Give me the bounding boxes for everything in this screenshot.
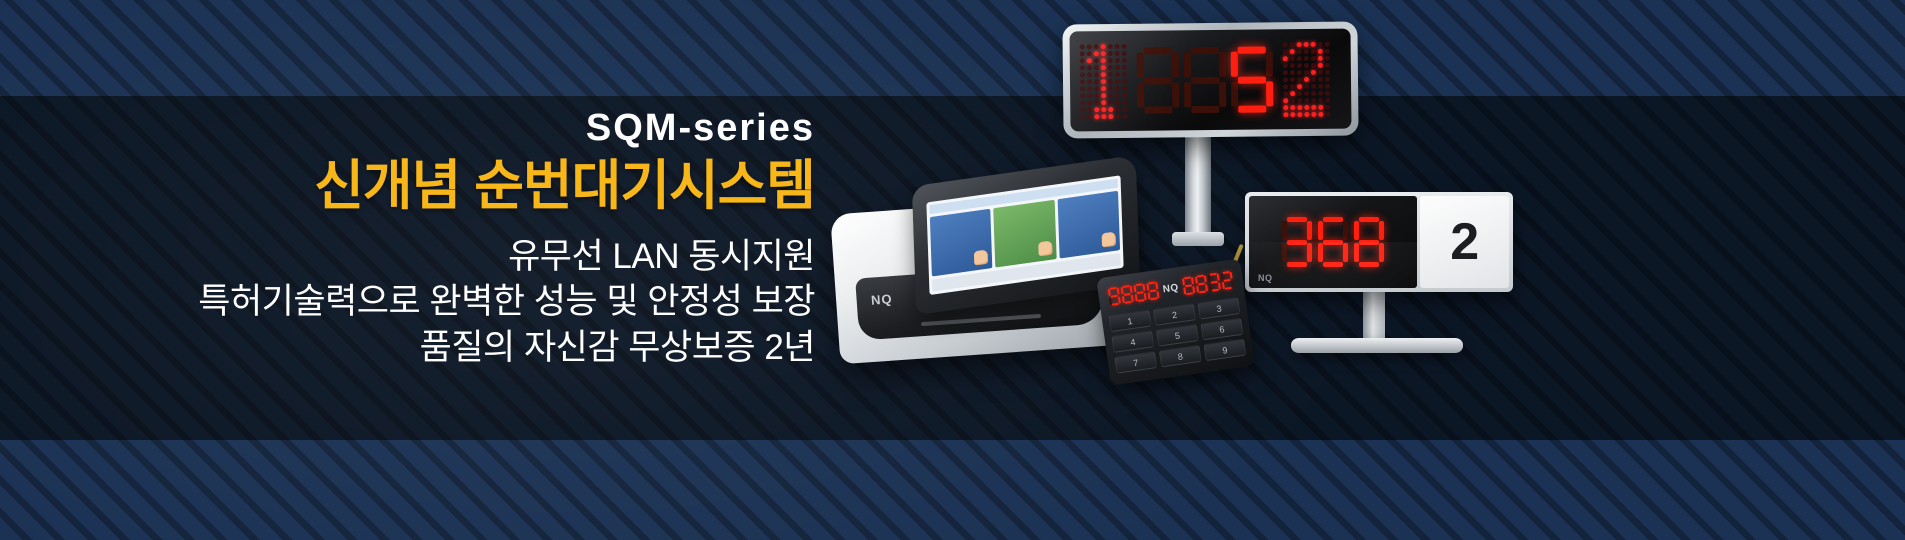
led-seven-segment-digit — [1137, 47, 1180, 113]
desk-seven-segment-digit — [1318, 217, 1348, 267]
led-matrix-dot — [1115, 43, 1120, 48]
led-matrix-dot — [1318, 97, 1323, 102]
led-matrix-dot — [1087, 100, 1092, 105]
led-matrix-dot — [1122, 43, 1127, 48]
desk-display-neck — [1363, 290, 1385, 342]
led-matrix-dot — [1318, 104, 1323, 109]
led-matrix-dot — [1304, 55, 1309, 60]
kiosk-screen-panel-1[interactable] — [930, 209, 993, 277]
led-matrix-dot — [1115, 64, 1120, 69]
led-matrix-dot — [1283, 42, 1288, 47]
keypad-key[interactable]: 7 — [1114, 351, 1157, 374]
led-matrix-dot — [1080, 100, 1085, 105]
led-matrix-dot — [1290, 49, 1295, 54]
kiosk-screen-panel-3[interactable] — [1057, 191, 1120, 259]
led-matrix-dot — [1108, 79, 1113, 84]
led-matrix-dot — [1318, 48, 1323, 53]
led-matrix-dot — [1108, 100, 1113, 105]
led-matrix-dot — [1318, 90, 1323, 95]
hand-pointer-icon — [1038, 240, 1052, 256]
led-matrix-dot — [1108, 72, 1113, 77]
led-matrix-dot — [1283, 91, 1288, 96]
led-matrix-dot — [1094, 65, 1099, 70]
led-matrix-dot — [1304, 69, 1309, 74]
led-seven-segment-digit — [1184, 47, 1227, 113]
keypad-display-left — [1108, 281, 1160, 306]
led-matrix-dot — [1101, 107, 1106, 112]
led-matrix-dot — [1101, 86, 1106, 91]
led-matrix-dot — [1094, 107, 1099, 112]
led-matrix-dot — [1080, 93, 1085, 98]
led-matrix-dot — [1304, 83, 1309, 88]
led-matrix-dot — [1108, 65, 1113, 70]
led-matrix-dot — [1108, 107, 1113, 112]
keypad-brand-logo: NQ — [1162, 282, 1179, 295]
keypad-key-grid: 1 2 3 4 5 6 7 8 9 — [1108, 297, 1246, 374]
led-matrix-dot — [1080, 72, 1085, 77]
led-matrix-dot — [1283, 56, 1288, 61]
banner-headline: 신개념 순번대기시스템 — [115, 154, 815, 220]
led-matrix-dot — [1304, 76, 1309, 81]
led-matrix-dot — [1318, 62, 1323, 67]
led-matrix-dot — [1325, 83, 1330, 88]
led-matrix-dot — [1304, 111, 1309, 116]
desk-display-led: NQ — [1249, 196, 1417, 288]
led-matrix-dot — [1122, 85, 1127, 90]
led-matrix-dot — [1115, 99, 1120, 104]
led-matrix-dot — [1087, 93, 1092, 98]
led-matrix-dot — [1311, 41, 1316, 46]
led-matrix-dot — [1290, 63, 1295, 68]
keypad-key[interactable]: 9 — [1203, 339, 1246, 362]
led-matrix-dot — [1094, 86, 1099, 91]
keypad-remote: NQ 1 2 3 4 5 6 7 8 9 — [1096, 258, 1255, 385]
led-matrix-dot — [1297, 98, 1302, 103]
led-matrix-dot — [1325, 41, 1330, 46]
led-matrix-digit-right — [1283, 41, 1331, 116]
keypad-key[interactable]: 3 — [1198, 297, 1241, 320]
led-matrix-dot — [1108, 114, 1113, 119]
keypad-segment-digit — [1182, 276, 1195, 295]
led-matrix-dot — [1101, 114, 1106, 119]
led-matrix-dot — [1304, 97, 1309, 102]
led-matrix-dot — [1115, 71, 1120, 76]
led-matrix-dot — [1101, 100, 1106, 105]
led-matrix-dot — [1122, 78, 1127, 83]
banner-subline-2: 특허기술력으로 완벽한 성능 및 안정성 보장 — [115, 279, 815, 325]
led-matrix-dot — [1080, 107, 1085, 112]
led-matrix-dot — [1087, 86, 1092, 91]
led-matrix-dot — [1304, 62, 1309, 67]
keypad-key[interactable]: 2 — [1153, 303, 1196, 326]
led-matrix-dot — [1290, 70, 1295, 75]
led-matrix-dot — [1297, 63, 1302, 68]
led-matrix-dot — [1311, 97, 1316, 102]
led-matrix-dot — [1122, 64, 1127, 69]
led-matrix-dot — [1094, 100, 1099, 105]
led-matrix-dot — [1080, 65, 1085, 70]
desk-seven-segment-digit — [1282, 217, 1312, 267]
led-matrix-dot — [1087, 79, 1092, 84]
desk-counter-number: 2 — [1420, 196, 1509, 288]
led-matrix-dot — [1094, 72, 1099, 77]
led-seven-segment-group — [1137, 46, 1274, 113]
keypad-segment-digit — [1221, 271, 1234, 290]
led-matrix-dot — [1101, 65, 1106, 70]
led-matrix-dot — [1094, 44, 1099, 49]
led-matrix-dot — [1290, 77, 1295, 82]
led-matrix-dot — [1325, 69, 1330, 74]
keypad-segment-digit — [1195, 274, 1208, 293]
led-matrix-dot — [1325, 62, 1330, 67]
led-matrix-dot — [1080, 86, 1085, 91]
led-matrix-dot — [1318, 111, 1323, 116]
led-matrix-dot — [1297, 105, 1302, 110]
led-matrix-dot — [1325, 111, 1330, 116]
led-matrix-dot — [1290, 91, 1295, 96]
banner-subline-1: 유무선 LAN 동시지원 — [115, 234, 815, 280]
led-sign-pole-foot — [1172, 232, 1224, 246]
keypad-key[interactable]: 4 — [1111, 330, 1154, 353]
led-matrix-dot — [1304, 41, 1309, 46]
led-matrix-dot — [1087, 107, 1092, 112]
led-matrix-dot — [1325, 104, 1330, 109]
led-matrix-dot — [1087, 51, 1092, 56]
banner-subline-3: 품질의 자신감 무상보증 2년 — [115, 325, 815, 371]
led-matrix-dot — [1318, 76, 1323, 81]
led-matrix-dot — [1283, 112, 1288, 117]
led-matrix-dot — [1311, 76, 1316, 81]
kiosk-touchscreen[interactable] — [926, 175, 1123, 295]
led-matrix-dot — [1101, 72, 1106, 77]
led-matrix-dot — [1115, 50, 1120, 55]
led-matrix-dot — [1101, 58, 1106, 63]
led-seven-segment-digit — [1231, 46, 1274, 112]
led-matrix-dot — [1325, 90, 1330, 95]
led-matrix-dot — [1311, 48, 1316, 53]
kiosk-screen-panel-2[interactable] — [994, 200, 1057, 268]
led-matrix-dot — [1318, 55, 1323, 60]
led-matrix-dot — [1325, 55, 1330, 60]
led-matrix-dot — [1094, 58, 1099, 63]
led-matrix-dot — [1283, 70, 1288, 75]
keypad-segment-digit — [1133, 283, 1146, 302]
led-matrix-dot — [1094, 114, 1099, 119]
led-matrix-dot — [1318, 41, 1323, 46]
led-matrix-dot — [1094, 51, 1099, 56]
keypad-key[interactable]: 1 — [1108, 310, 1151, 333]
keypad-segment-digit — [1120, 285, 1133, 304]
led-matrix-dot — [1311, 62, 1316, 67]
led-matrix-dot — [1122, 71, 1127, 76]
led-matrix-dot — [1122, 99, 1127, 104]
banner-subline-list: 유무선 LAN 동시지원 특허기술력으로 완벽한 성능 및 안정성 보장 품질의… — [115, 234, 815, 371]
led-matrix-dot — [1318, 69, 1323, 74]
led-matrix-dot — [1115, 85, 1120, 90]
keypad-key[interactable]: 5 — [1156, 324, 1199, 347]
led-matrix-dot — [1290, 98, 1295, 103]
led-matrix-dot — [1304, 90, 1309, 95]
keypad-key[interactable]: 8 — [1159, 345, 1202, 368]
led-matrix-digit-left — [1080, 43, 1128, 118]
led-matrix-dot — [1297, 42, 1302, 47]
kiosk-brand-logo: NQ — [871, 291, 893, 307]
led-matrix-dot — [1101, 79, 1106, 84]
led-matrix-dot — [1297, 91, 1302, 96]
promo-banner: SQM-series 신개념 순번대기시스템 유무선 LAN 동시지원 특허기술… — [0, 0, 1905, 540]
led-matrix-dot — [1122, 113, 1127, 118]
led-matrix-dot — [1115, 92, 1120, 97]
led-matrix-dot — [1122, 92, 1127, 97]
led-matrix-dot — [1311, 83, 1316, 88]
led-matrix-dot — [1101, 44, 1106, 49]
led-matrix-dot — [1101, 93, 1106, 98]
led-matrix-dot — [1297, 70, 1302, 75]
led-matrix-dot — [1115, 113, 1120, 118]
led-matrix-dot — [1290, 105, 1295, 110]
led-matrix-dot — [1080, 114, 1085, 119]
led-matrix-dot — [1290, 112, 1295, 117]
led-matrix-dot — [1115, 57, 1120, 62]
led-matrix-dot — [1283, 98, 1288, 103]
keypad-key[interactable]: 6 — [1200, 318, 1243, 341]
desk-brand-logo: NQ — [1258, 273, 1273, 283]
large-led-sign — [1062, 21, 1358, 138]
led-matrix-dot — [1080, 51, 1085, 56]
led-matrix-dot — [1094, 93, 1099, 98]
led-matrix-dot — [1290, 42, 1295, 47]
led-matrix-dot — [1297, 49, 1302, 54]
led-matrix-dot — [1108, 86, 1113, 91]
large-led-screen — [1069, 29, 1351, 132]
led-matrix-dot — [1122, 50, 1127, 55]
led-matrix-dot — [1108, 44, 1113, 49]
led-matrix-dot — [1283, 49, 1288, 54]
hand-pointer-icon — [1102, 232, 1116, 248]
led-matrix-dot — [1283, 63, 1288, 68]
led-matrix-dot — [1311, 111, 1316, 116]
led-matrix-dot — [1283, 105, 1288, 110]
led-matrix-dot — [1297, 56, 1302, 61]
hand-pointer-icon — [974, 249, 988, 265]
led-matrix-dot — [1101, 51, 1106, 56]
led-matrix-dot — [1087, 58, 1092, 63]
led-matrix-dot — [1318, 83, 1323, 88]
led-matrix-dot — [1290, 56, 1295, 61]
led-sign-pole — [1185, 125, 1211, 243]
desk-display-panel: NQ 2 — [1245, 192, 1513, 292]
led-matrix-dot — [1304, 104, 1309, 109]
led-matrix-dot — [1297, 112, 1302, 117]
led-matrix-dot — [1108, 51, 1113, 56]
led-matrix-dot — [1297, 77, 1302, 82]
led-matrix-dot — [1080, 79, 1085, 84]
led-matrix-dot — [1087, 44, 1092, 49]
led-matrix-dot — [1304, 48, 1309, 53]
led-matrix-dot — [1108, 58, 1113, 63]
led-matrix-dot — [1311, 90, 1316, 95]
desk-display-base — [1291, 338, 1463, 353]
led-matrix-dot — [1080, 58, 1085, 63]
keypad-segment-digit — [1208, 273, 1221, 292]
led-matrix-dot — [1115, 78, 1120, 83]
led-matrix-dot — [1311, 55, 1316, 60]
led-matrix-dot — [1108, 93, 1113, 98]
keypad-display-right — [1182, 271, 1234, 296]
led-matrix-dot — [1080, 44, 1085, 49]
led-matrix-dot — [1325, 97, 1330, 102]
led-matrix-dot — [1297, 84, 1302, 89]
led-matrix-dot — [1283, 77, 1288, 82]
led-matrix-dot — [1122, 106, 1127, 111]
led-matrix-dot — [1311, 69, 1316, 74]
product-series-label: SQM-series — [115, 108, 815, 150]
led-matrix-dot — [1325, 48, 1330, 53]
led-matrix-dot — [1087, 72, 1092, 77]
led-matrix-dot — [1115, 106, 1120, 111]
keypad-segment-digit — [1146, 281, 1159, 300]
led-matrix-dot — [1290, 84, 1295, 89]
led-matrix-dot — [1283, 84, 1288, 89]
keypad-segment-digit — [1108, 287, 1121, 306]
banner-copy: SQM-series 신개념 순번대기시스템 유무선 LAN 동시지원 특허기술… — [115, 96, 815, 370]
led-matrix-dot — [1311, 104, 1316, 109]
led-matrix-dot — [1122, 57, 1127, 62]
desk-seven-segment-digit — [1354, 217, 1384, 267]
led-matrix-dot — [1094, 79, 1099, 84]
led-matrix-dot — [1325, 76, 1330, 81]
led-matrix-dot — [1087, 114, 1092, 119]
desk-counter-display: NQ 2 — [1245, 192, 1545, 372]
led-matrix-dot — [1087, 65, 1092, 70]
